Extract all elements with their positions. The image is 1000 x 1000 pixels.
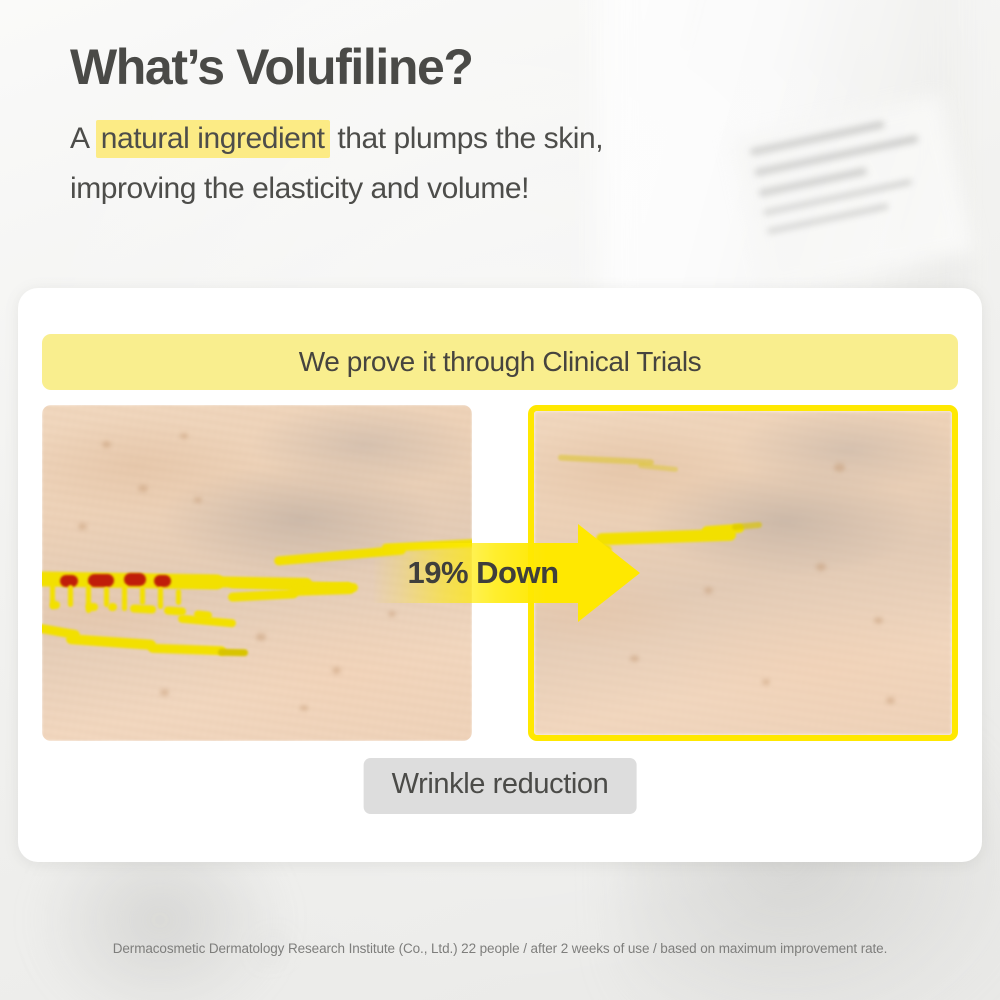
wrinkle-reduction-caption: Wrinkle reduction — [364, 758, 637, 814]
page-title: What’s Volufiline? — [70, 40, 930, 94]
before-after-comparison: 19% Down — [42, 405, 958, 741]
subtitle-highlight: natural ingredient — [96, 120, 330, 158]
infographic-root: What’s Volufiline? A natural ingredient … — [0, 0, 1000, 1000]
subtitle-line-two: improving the elasticity and volume! — [70, 172, 529, 205]
arrow-label: 19% Down — [372, 543, 584, 603]
footer-disclaimer: Dermacosmetic Dermatology Research Insti… — [0, 941, 1000, 956]
wrinkle-reduction-caption-label: Wrinkle reduction — [392, 768, 609, 800]
subtitle-text-after: that plumps the skin, — [330, 122, 604, 155]
clinical-trials-banner-label: We prove it through Clinical Trials — [299, 346, 702, 378]
arrow-head-icon — [578, 524, 640, 622]
page-subtitle: A natural ingredient that plumps the ski… — [70, 114, 930, 214]
clinical-trial-card: We prove it through Clinical Trials — [18, 288, 982, 862]
header: What’s Volufiline? A natural ingredient … — [70, 40, 930, 214]
improvement-arrow: 19% Down — [372, 524, 640, 622]
clinical-trials-banner: We prove it through Clinical Trials — [42, 334, 958, 390]
subtitle-text-before: A — [70, 122, 96, 155]
